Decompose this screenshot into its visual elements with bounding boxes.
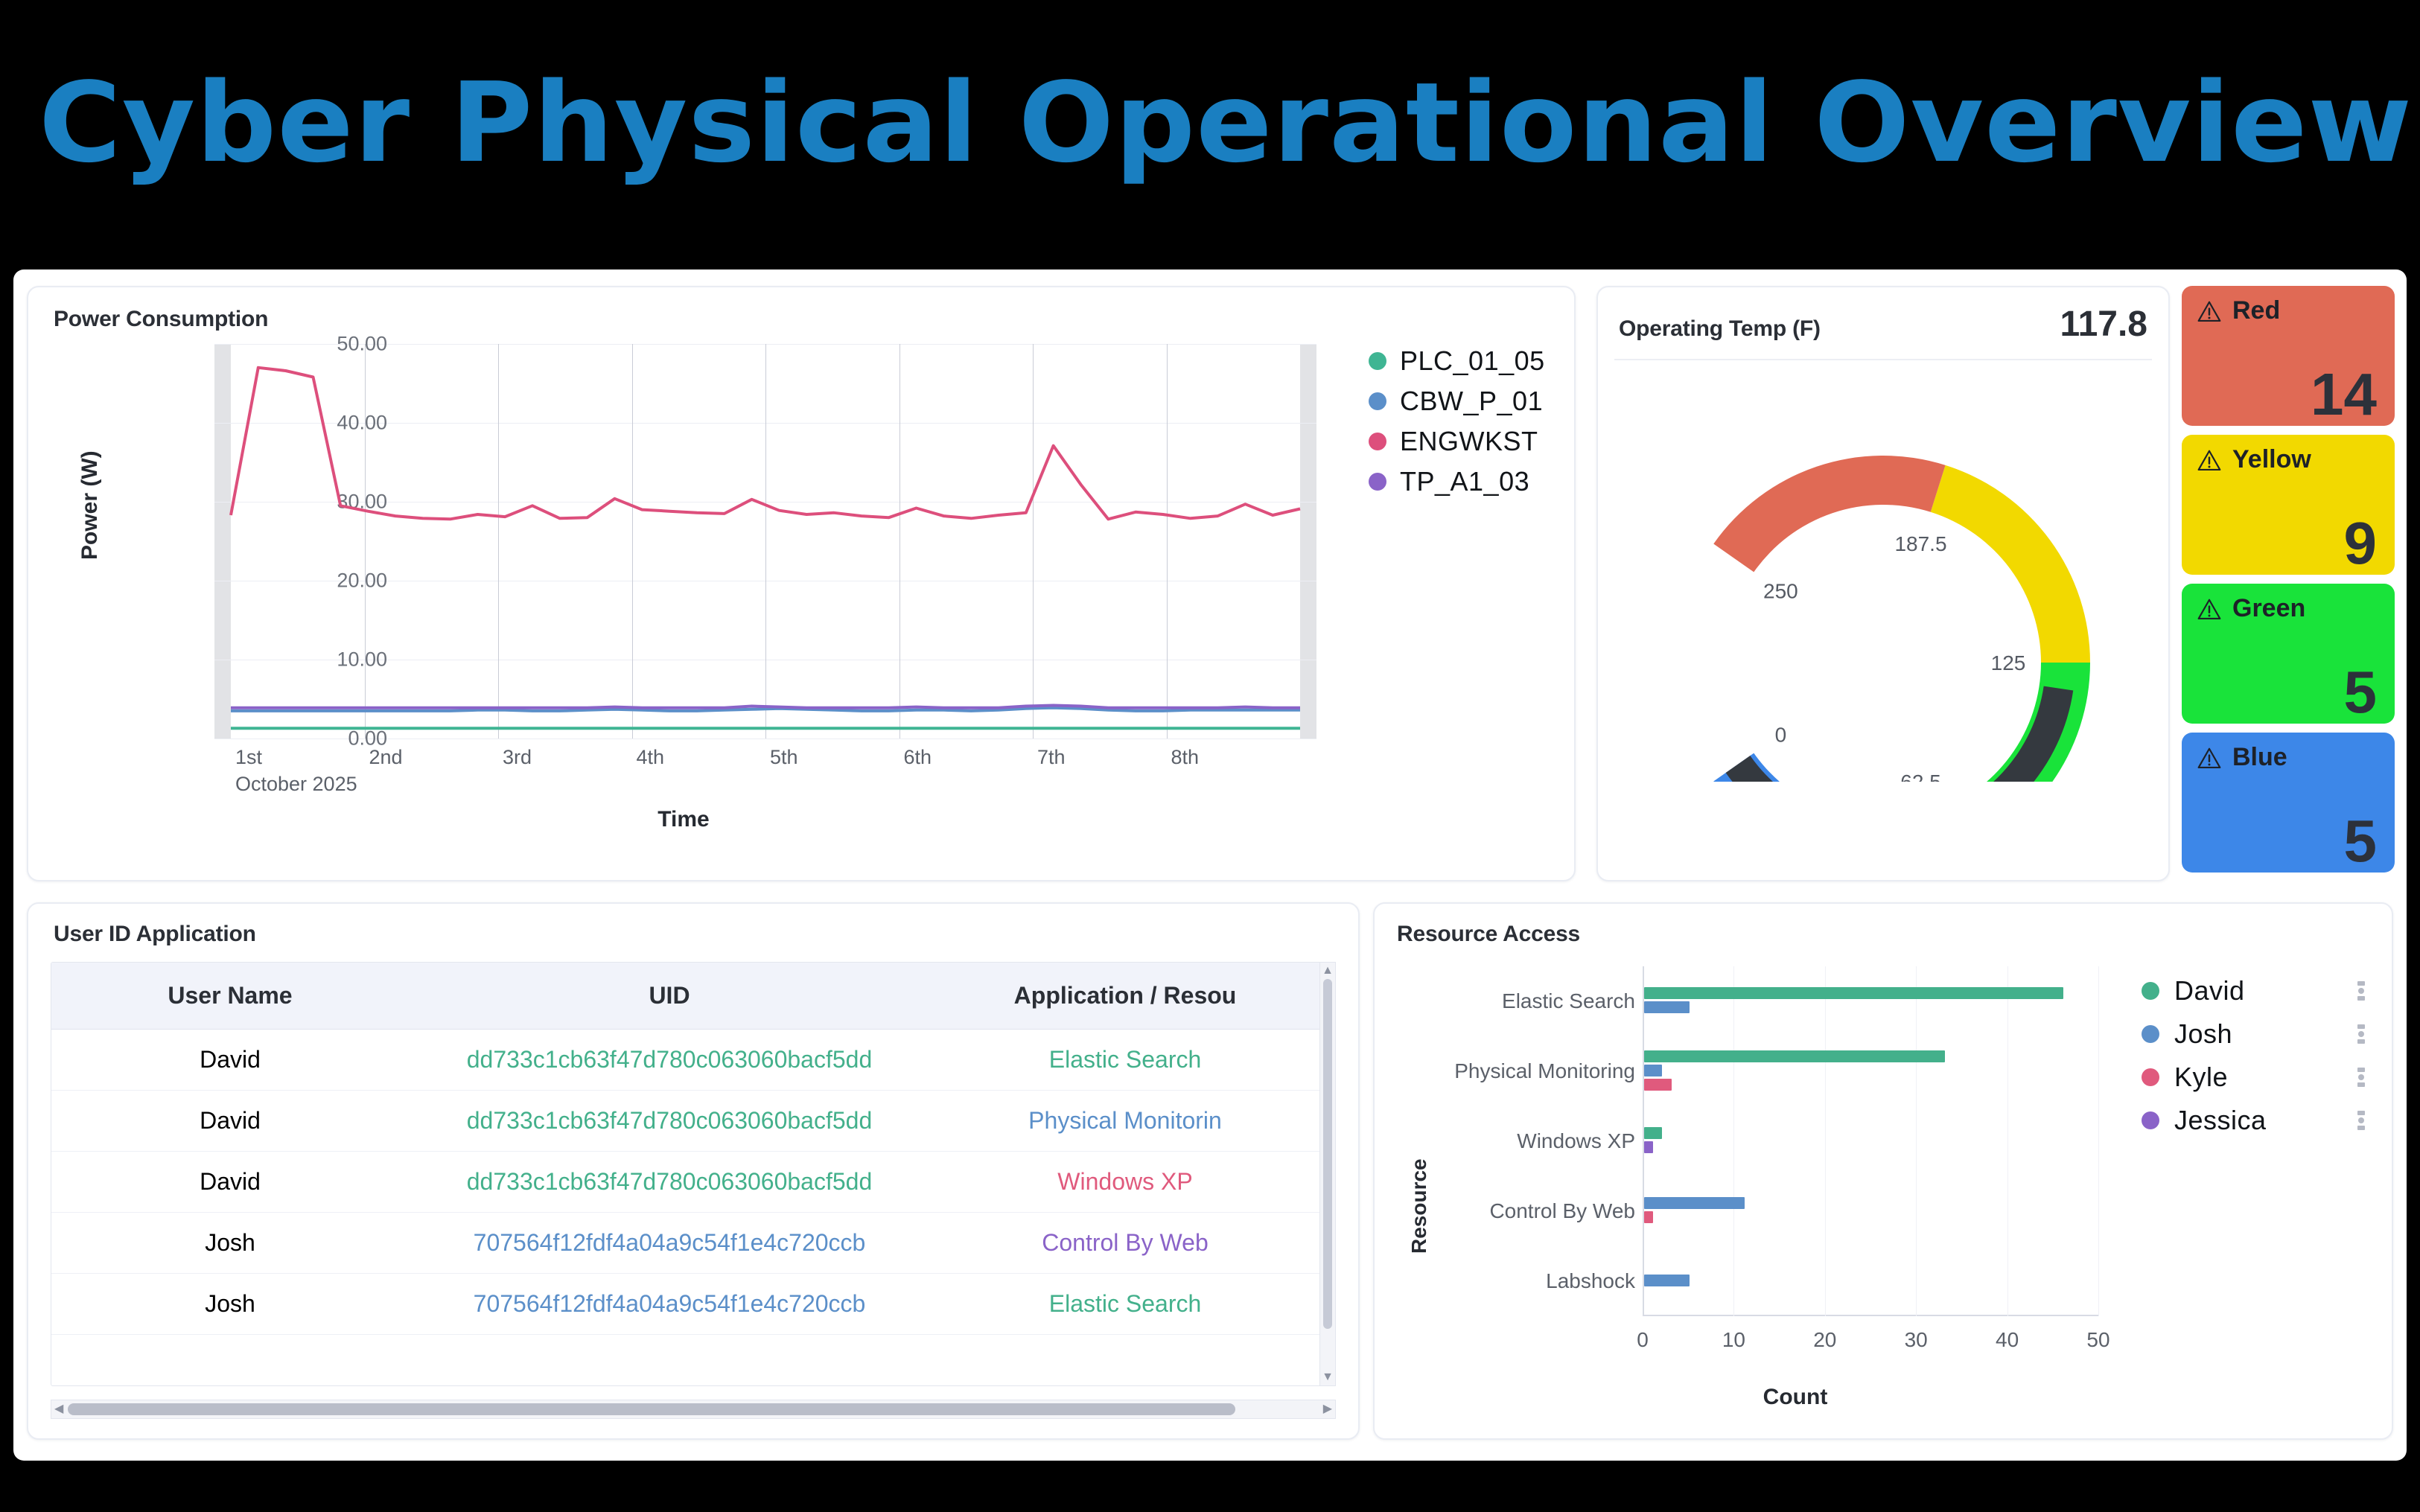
status-card-count: 14 [2311, 365, 2377, 424]
user-id-table: User NameUIDApplication / Resou Daviddd7… [51, 963, 1320, 1335]
resource-bar[interactable] [1644, 1079, 1672, 1091]
legend-item[interactable]: Josh [2142, 1018, 2365, 1050]
resource-x-tick: 30 [1905, 1328, 1928, 1352]
power-chart: Power (W) 0.0010.0020.0030.0040.0050.001… [28, 336, 1339, 850]
cell-user-name: David [51, 1091, 409, 1152]
legend-item-label: TP_A1_03 [1400, 466, 1529, 497]
resource-category-label: Elastic Search [1389, 989, 1635, 1013]
drag-handle-icon[interactable] [2357, 981, 2365, 1001]
power-x-tick-subtitle: October 2025 [235, 773, 357, 796]
power-series-line-tp_a1_03 [231, 706, 1300, 708]
legend-color-dot [2142, 1068, 2159, 1086]
resource-bar[interactable] [1644, 1065, 1662, 1076]
status-card-count: 5 [2344, 663, 2378, 722]
status-card-yellow[interactable]: Yellow9 [2182, 435, 2395, 575]
resource-bar[interactable] [1644, 1001, 1690, 1013]
cell-user-name: David [51, 1030, 409, 1091]
gauge-tick-label: 125 [1991, 651, 2026, 674]
legend-color-dot [1369, 392, 1386, 410]
resource-bar[interactable] [1644, 1197, 1745, 1209]
power-y-axis-label: Power (W) [77, 450, 103, 560]
legend-item[interactable]: David [2142, 975, 2365, 1007]
table-column-header[interactable]: User Name [51, 963, 409, 1030]
resource-bar[interactable] [1644, 1141, 1653, 1153]
table-column-header[interactable]: UID [409, 963, 930, 1030]
gauge-svg: 062.5125187.5250 [1637, 365, 2129, 782]
table-row[interactable]: Josh707564f12fdf4a04a9c54f1e4c720ccbCont… [51, 1213, 1320, 1274]
power-plot-area: 0.0010.0020.0030.0040.0050.001stOctober … [214, 344, 1316, 739]
table-horizontal-scrollbar[interactable]: ◀ ▶ [51, 1400, 1336, 1419]
status-card-label: Green [2232, 594, 2305, 623]
gauge-panel-title: Operating Temp (F) [1619, 316, 1821, 342]
power-x-tick: 5th [770, 746, 798, 769]
cell-uid: 707564f12fdf4a04a9c54f1e4c720ccb [409, 1274, 930, 1335]
table-row[interactable]: Daviddd733c1cb63f47d780c063060bacf5ddWin… [51, 1152, 1320, 1213]
legend-item[interactable]: CBW_P_01 [1369, 386, 1545, 417]
power-x-axis-label: Time [28, 807, 1339, 832]
table-panel-title: User ID Application [54, 922, 256, 947]
cell-uid: dd733c1cb63f47d780c063060bacf5dd [409, 1091, 930, 1152]
status-card-green[interactable]: Green5 [2182, 584, 2395, 724]
resource-gridline [1733, 966, 1734, 1316]
status-card-red[interactable]: Red14 [2182, 286, 2395, 426]
dashboard-header: Cyber Physical Operational Overview [0, 0, 2420, 246]
cell-uid: dd733c1cb63f47d780c063060bacf5dd [409, 1152, 930, 1213]
vertical-scroll-thumb[interactable] [1323, 979, 1332, 1329]
power-x-tick: 2nd [369, 746, 403, 769]
resource-bar[interactable] [1644, 1211, 1653, 1223]
gauge-divider [1614, 359, 2152, 360]
legend-item-label: Jessica [2174, 1105, 2267, 1136]
page-title: Cyber Physical Operational Overview [39, 59, 2413, 187]
cell-uid: dd733c1cb63f47d780c063060bacf5dd [409, 1030, 930, 1091]
resource-x-tick: 50 [2086, 1328, 2109, 1352]
user-id-application-panel: User ID Application User NameUIDApplicat… [27, 902, 1360, 1440]
power-series-line-engwkst [231, 368, 1300, 520]
status-card-blue[interactable]: Blue5 [2182, 733, 2395, 873]
drag-handle-icon[interactable] [2357, 1111, 2365, 1130]
horizontal-scroll-thumb[interactable] [68, 1403, 1235, 1415]
cell-application: Physical Monitorin [930, 1091, 1320, 1152]
legend-item[interactable]: PLC_01_05 [1369, 345, 1545, 377]
resource-gridline [1916, 966, 1917, 1316]
table-vertical-scrollbar[interactable]: ▲ ▼ [1319, 962, 1336, 1386]
legend-item[interactable]: Jessica [2142, 1105, 2365, 1136]
gauge-chart: 062.5125187.5250 [1598, 365, 2168, 811]
table-header-row: User NameUIDApplication / Resou [51, 963, 1320, 1030]
resource-bar[interactable] [1644, 1275, 1690, 1286]
legend-item-label: ENGWKST [1400, 426, 1538, 457]
resource-x-axis-line [1643, 1315, 2098, 1316]
scroll-right-icon[interactable]: ▶ [1323, 1403, 1332, 1415]
gauge-current-value: 117.8 [2060, 304, 2147, 345]
cell-user-name: Josh [51, 1213, 409, 1274]
legend-item-label: Kyle [2174, 1062, 2228, 1093]
resource-bar[interactable] [1644, 987, 2063, 999]
power-x-tick: 3rd [503, 746, 532, 769]
resource-category-label: Labshock [1389, 1269, 1635, 1293]
drag-handle-icon[interactable] [2357, 1068, 2365, 1087]
resource-category-label: Physical Monitoring [1389, 1059, 1635, 1083]
cell-uid: 707564f12fdf4a04a9c54f1e4c720ccb [409, 1213, 930, 1274]
power-x-tick: 4th [637, 746, 665, 769]
legend-color-dot [1369, 352, 1386, 370]
legend-item-label: David [2174, 975, 2245, 1007]
power-x-tick: 6th [904, 746, 932, 769]
gauge-band-2 [1931, 465, 2090, 663]
resource-x-tick: 40 [1996, 1328, 2019, 1352]
resource-access-panel: Resource Access Resource 01020304050Elas… [1373, 902, 2393, 1440]
operating-temp-panel: Operating Temp (F) 117.8 062.5125187.525… [1596, 286, 2170, 881]
resource-x-axis-label: Count [1464, 1385, 2127, 1410]
cell-application: Elastic Search [930, 1274, 1320, 1335]
warning-triangle-icon [2197, 747, 2222, 769]
cell-application: Windows XP [930, 1152, 1320, 1213]
legend-item[interactable]: TP_A1_03 [1369, 466, 1545, 497]
table-scroll-container[interactable]: User NameUIDApplication / Resou Daviddd7… [51, 962, 1336, 1386]
resource-bar[interactable] [1644, 1127, 1662, 1139]
status-card-count: 5 [2344, 811, 2378, 871]
legend-color-dot [2142, 1025, 2159, 1043]
resource-x-tick: 0 [1637, 1328, 1649, 1352]
scroll-up-icon[interactable]: ▲ [1322, 963, 1334, 979]
table-row[interactable]: Daviddd733c1cb63f47d780c063060bacf5ddEla… [51, 1030, 1320, 1091]
warning-triangle-icon [2197, 449, 2222, 471]
power-x-tick: 1st [235, 746, 262, 769]
legend-color-dot [1369, 473, 1386, 491]
status-card-label: Yellow [2232, 445, 2311, 474]
legend-item[interactable]: Kyle [2142, 1062, 2365, 1093]
warning-triangle-icon [2197, 300, 2222, 322]
resource-bar[interactable] [1644, 1050, 1945, 1062]
resource-gridline [2098, 966, 2099, 1316]
gauge-tick-label: 0 [1775, 723, 1787, 746]
warning-triangle-icon [2197, 598, 2222, 620]
legend-item[interactable]: ENGWKST [1369, 426, 1545, 457]
resource-panel-title: Resource Access [1397, 922, 1580, 947]
dashboard-shell: Power Consumption Power (W) 0.0010.0020.… [13, 269, 2407, 1461]
table-body: Daviddd733c1cb63f47d780c063060bacf5ddEla… [51, 1030, 1320, 1335]
resource-gridline [2007, 966, 2008, 1316]
status-card-count: 9 [2344, 514, 2378, 573]
cell-user-name: Josh [51, 1274, 409, 1335]
status-card-label: Blue [2232, 743, 2287, 772]
cell-application: Elastic Search [930, 1030, 1320, 1091]
status-card-list: Red14Yellow9Green5Blue5 [2182, 286, 2395, 881]
drag-handle-icon[interactable] [2357, 1024, 2365, 1044]
power-panel-title: Power Consumption [54, 307, 268, 332]
resource-chart-legend: DavidJoshKyleJessica [2142, 975, 2365, 1136]
resource-x-tick: 20 [1813, 1328, 1836, 1352]
legend-color-dot [2142, 982, 2159, 1000]
power-x-tick: 8th [1171, 746, 1200, 769]
legend-color-dot [2142, 1111, 2159, 1129]
scroll-down-icon[interactable]: ▼ [1322, 1369, 1334, 1385]
cell-application: Control By Web [930, 1213, 1320, 1274]
power-consumption-panel: Power Consumption Power (W) 0.0010.0020.… [27, 286, 1576, 881]
status-card-label: Red [2232, 296, 2280, 325]
gauge-tick-label: 187.5 [1894, 532, 1946, 555]
gauge-tick-label: 250 [1763, 580, 1798, 603]
table-column-header[interactable]: Application / Resou [930, 963, 1320, 1030]
power-x-tick: 7th [1037, 746, 1066, 769]
resource-plot-area: 01020304050Elastic SearchPhysical Monito… [1643, 966, 2098, 1316]
resource-chart: Resource 01020304050Elastic SearchPhysic… [1375, 956, 2127, 1432]
resource-category-label: Windows XP [1389, 1129, 1635, 1153]
power-chart-legend: PLC_01_05CBW_P_01ENGWKSTTP_A1_03 [1369, 345, 1545, 497]
table-row[interactable]: Daviddd733c1cb63f47d780c063060bacf5ddPhy… [51, 1091, 1320, 1152]
table-row[interactable]: Josh707564f12fdf4a04a9c54f1e4c720ccbElas… [51, 1274, 1320, 1335]
scroll-left-icon[interactable]: ◀ [54, 1403, 63, 1415]
legend-item-label: CBW_P_01 [1400, 386, 1543, 417]
legend-item-label: PLC_01_05 [1400, 345, 1545, 377]
cell-user-name: David [51, 1152, 409, 1213]
resource-category-label: Control By Web [1389, 1199, 1635, 1223]
resource-gridline [1825, 966, 1826, 1316]
resource-x-tick: 10 [1722, 1328, 1745, 1352]
gauge-tick-label: 62.5 [1900, 771, 1941, 782]
legend-item-label: Josh [2174, 1018, 2232, 1050]
legend-color-dot [1369, 433, 1386, 450]
power-series-svg [214, 344, 1316, 739]
